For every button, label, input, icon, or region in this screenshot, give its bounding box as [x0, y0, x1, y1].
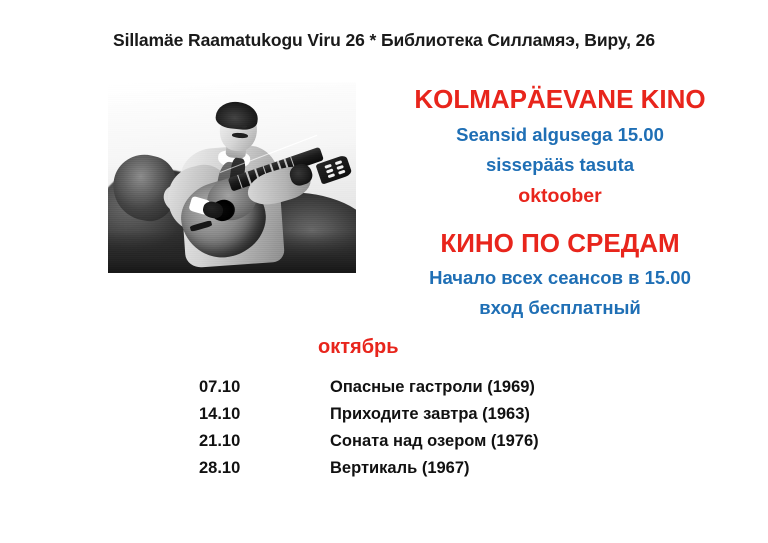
schedule-film-title: Опасные гастроли (1969) [330, 378, 535, 397]
estonian-admission: sissepääs tasuta [385, 155, 735, 175]
estonian-month: oktoober [385, 186, 735, 207]
venue-header: Sillamäe Raamatukogu Viru 26 * Библиотек… [0, 30, 768, 51]
estonian-title: KOLMAPÄEVANE KINO [385, 86, 735, 114]
russian-month: октябрь [318, 336, 399, 359]
schedule-date: 28.10 [199, 459, 330, 478]
schedule-film-title: Вертикаль (1967) [330, 459, 470, 478]
schedule-row: 21.10Соната над озером (1976) [199, 432, 629, 459]
russian-title: КИНО ПО СРЕДАМ [385, 230, 735, 258]
schedule-row: 07.10Опасные гастроли (1969) [199, 378, 629, 405]
cinema-poster: Sillamäe Raamatukogu Viru 26 * Библиотек… [0, 0, 768, 543]
screening-schedule: 07.10Опасные гастроли (1969)14.10Приходи… [199, 378, 629, 486]
estonian-showtime: Seansid algusega 15.00 [385, 125, 735, 145]
schedule-date: 21.10 [199, 432, 330, 451]
schedule-film-title: Соната над озером (1976) [330, 432, 539, 451]
russian-admission: вход бесплатный [385, 298, 735, 318]
guitarist-photo [108, 82, 356, 273]
guitarist-photo-image [108, 82, 356, 273]
schedule-row: 14.10Приходите завтра (1963) [199, 405, 629, 432]
announcement-column: KOLMAPÄEVANE KINO Seansid algusega 15.00… [385, 86, 735, 318]
schedule-film-title: Приходите завтра (1963) [330, 405, 530, 424]
schedule-row: 28.10Вертикаль (1967) [199, 459, 629, 486]
photo-film-grain [108, 82, 356, 273]
schedule-date: 07.10 [199, 378, 330, 397]
russian-showtime: Начало всех сеансов в 15.00 [385, 268, 735, 288]
schedule-date: 14.10 [199, 405, 330, 424]
